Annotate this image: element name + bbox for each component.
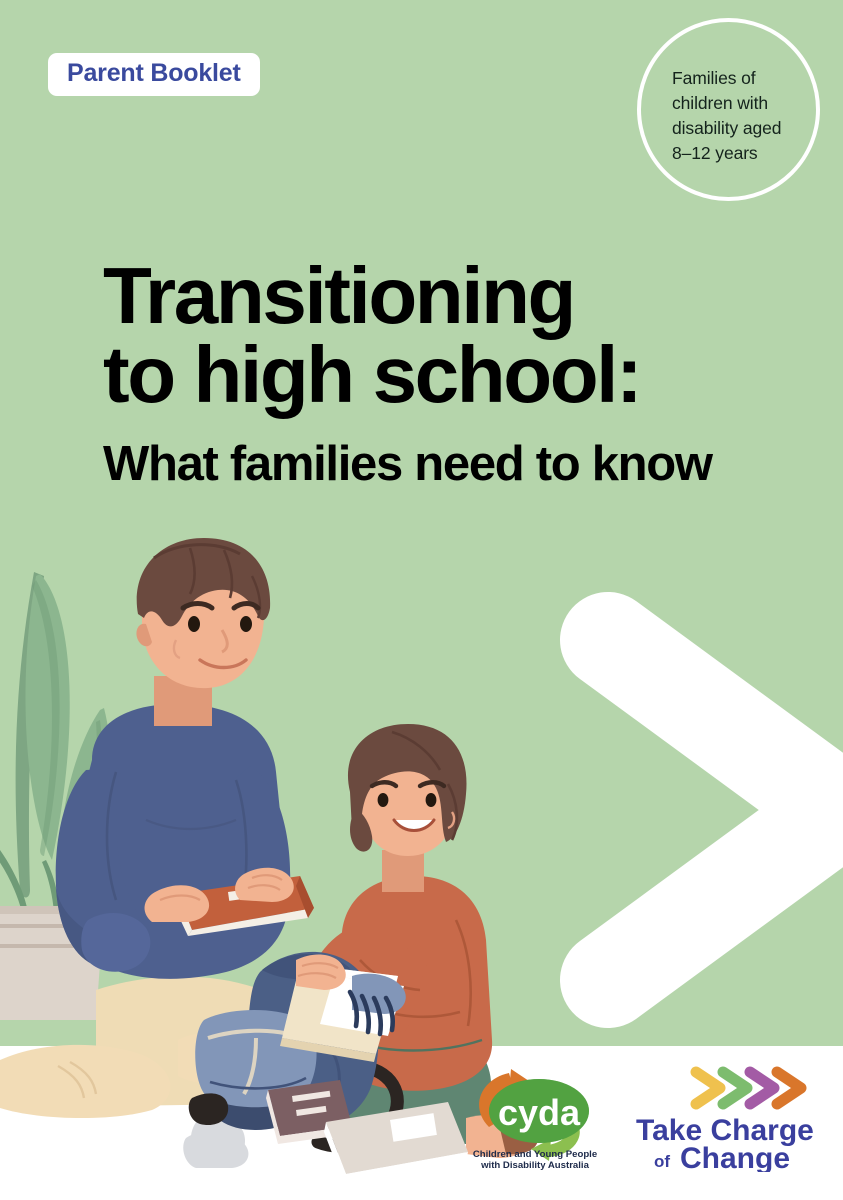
cyda-tagline-line-2: with Disability Australia bbox=[480, 1160, 590, 1171]
chevron-purple-icon bbox=[750, 1072, 774, 1104]
parent-booklet-label: Parent Booklet bbox=[67, 59, 241, 87]
audience-line-3: disability aged bbox=[672, 116, 812, 141]
cyda-wordmark: cyda bbox=[498, 1092, 581, 1133]
title-line-2: to high school: bbox=[103, 335, 803, 414]
title-subtitle: What families need to know bbox=[103, 440, 803, 489]
take-charge-of-word: of bbox=[654, 1152, 670, 1171]
title-line-1: Transitioning bbox=[103, 256, 803, 335]
audience-line-1: Families of bbox=[672, 66, 812, 91]
audience-circle-text: Families of children with disability age… bbox=[672, 66, 812, 165]
chevron-green-icon bbox=[723, 1072, 747, 1104]
audience-line-4: 8–12 years bbox=[672, 141, 812, 166]
chevron-orange-icon bbox=[777, 1072, 801, 1104]
audience-circle-badge: Families of children with disability age… bbox=[637, 18, 820, 201]
cyda-tagline-line-1: Children and Young People bbox=[473, 1149, 597, 1160]
take-charge-line-2: Change bbox=[680, 1142, 790, 1172]
chevron-row-icon bbox=[696, 1072, 801, 1104]
cyda-logo: cyda Children and Young People with Disa… bbox=[455, 1063, 615, 1175]
audience-line-2: children with bbox=[672, 91, 812, 116]
booklet-cover-page: Parent Booklet Families of children with… bbox=[0, 0, 843, 1200]
chevron-yellow-icon bbox=[696, 1072, 720, 1104]
parent-booklet-badge: Parent Booklet bbox=[48, 53, 260, 96]
chevron-right-icon bbox=[540, 560, 843, 1060]
take-charge-of-change-logo: Take Charge of Change bbox=[632, 1060, 827, 1172]
cover-title-block: Transitioning to high school: What famil… bbox=[103, 256, 803, 489]
